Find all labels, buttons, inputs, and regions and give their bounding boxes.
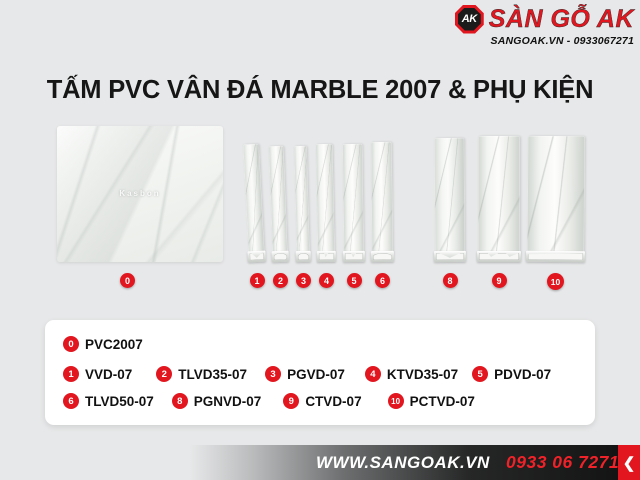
legend-item-4: 4KTVD35-07 (365, 366, 458, 382)
footer-phone[interactable]: 0933 06 7271 (506, 452, 619, 473)
legend-label-3: PGVD-07 (287, 367, 345, 382)
moulding-profile-flatwide (526, 251, 585, 262)
legend-badge-1: 1 (63, 366, 79, 382)
product-badge-9: 9 (492, 273, 507, 288)
ak-monogram: AK (455, 5, 484, 34)
moulding-profile-step (477, 251, 521, 262)
moulding-strip-3 (294, 146, 310, 262)
legend-badge-0: 0 (63, 336, 79, 352)
legend-row-1: 1VVD-072TLVD35-073PGVD-074KTVD35-075PDVD… (63, 366, 551, 382)
moulding-profile-flat (343, 251, 365, 262)
moulding-surface (434, 138, 465, 253)
moulding-strip-2 (269, 146, 288, 262)
legend-item-1: 1VVD-07 (63, 366, 132, 382)
legend-badge-5: 5 (472, 366, 488, 382)
product-badge-0: 0 (120, 273, 135, 288)
moulding-strip-9 (478, 136, 520, 262)
legend-badge-2: 2 (156, 366, 172, 382)
brand-name: SÀN GỖ AK (489, 5, 634, 33)
legend-label-8: PGNVD-07 (194, 394, 262, 409)
moulding-surface (316, 144, 335, 253)
legend-item-2: 2TLVD35-07 (156, 366, 247, 382)
moulding-surface (294, 146, 310, 253)
product-badge-10: 10 (547, 273, 564, 290)
legend-item-9: 9CTVD-07 (283, 393, 361, 409)
moulding-profile-half (272, 251, 289, 263)
footer-bar: WWW.SANGOAK.VN 0933 06 7271 ❮ (190, 445, 640, 480)
moulding-strip-4 (316, 144, 335, 262)
legend-label-0: PVC2007 (85, 337, 143, 352)
moulding-profile-v (247, 251, 266, 263)
legend-label-6: TLVD50-07 (85, 394, 154, 409)
moulding-surface (342, 144, 364, 253)
footer-website[interactable]: WWW.SANGOAK.VN (316, 453, 490, 473)
brand-logo-row: AK SÀN GỖ AK (455, 4, 634, 34)
legend-item-8: 8PGNVD-07 (172, 393, 262, 409)
product-image-pvc-panel: Kasbon (57, 126, 223, 262)
moulding-profile-flat (317, 251, 336, 262)
legend-label-5: PDVD-07 (494, 367, 551, 382)
legend-item-3: 3PGVD-07 (265, 366, 345, 382)
legend-badge-9: 9 (283, 393, 299, 409)
product-badge-1: 1 (250, 273, 265, 288)
product-badge-5: 5 (347, 273, 362, 288)
moulding-profile-dome (371, 251, 394, 262)
legend-item-6: 6TLVD50-07 (63, 393, 154, 409)
ak-octagon-icon: AK (455, 5, 484, 34)
legend-badge-3: 3 (265, 366, 281, 382)
moulding-profile-v (434, 251, 466, 262)
chevron-left-icon: ❮ (618, 445, 640, 480)
legend-item-5: 5PDVD-07 (472, 366, 551, 382)
legend-label-10: PCTVD-07 (410, 394, 475, 409)
legend-badge-8: 8 (172, 393, 188, 409)
product-badge-3: 3 (296, 273, 311, 288)
moulding-surface (371, 142, 393, 253)
legend-row-2: 6TLVD50-078PGNVD-079CTVD-0710PCTVD-07 (63, 393, 475, 409)
legend-label-9: CTVD-07 (305, 394, 361, 409)
legend-badge-4: 4 (365, 366, 381, 382)
brand-subtitle: SANGOAK.VN - 0933067271 (491, 35, 635, 47)
moulding-strip-1 (243, 144, 265, 263)
brand-logo: AK SÀN GỖ AK SANGOAK.VN - 0933067271 (428, 4, 634, 52)
legend-badge-6: 6 (63, 393, 79, 409)
moulding-strip-5 (342, 144, 364, 262)
page-title: TẤM PVC VÂN ĐÁ MARBLE 2007 & PHỤ KIỆN (0, 76, 640, 105)
moulding-surface (243, 144, 265, 254)
legend-row-0: 0PVC2007 (63, 336, 143, 352)
legend-label-4: KTVD35-07 (387, 367, 458, 382)
legend-item-0: 0PVC2007 (63, 336, 143, 352)
moulding-surface (527, 136, 585, 253)
product-badge-8: 8 (443, 273, 458, 288)
legend-label-2: TLVD35-07 (178, 367, 247, 382)
moulding-strip-8 (434, 138, 465, 262)
moulding-strip-10 (527, 136, 585, 262)
moulding-profile-half (296, 251, 311, 262)
product-badge-2: 2 (273, 273, 288, 288)
legend-card: 0PVC2007 1VVD-072TLVD35-073PGVD-074KTVD3… (45, 320, 595, 425)
moulding-surface (478, 136, 520, 253)
panel-watermark: Kasbon (57, 189, 223, 198)
legend-label-1: VVD-07 (85, 367, 132, 382)
moulding-strip-6 (371, 142, 393, 262)
moulding-surface (269, 146, 288, 253)
product-badge-4: 4 (319, 273, 334, 288)
legend-badge-10: 10 (388, 393, 404, 409)
product-badge-6: 6 (375, 273, 390, 288)
poster-canvas: AK SÀN GỖ AK SANGOAK.VN - 0933067271 TẤM… (0, 0, 640, 480)
legend-item-10: 10PCTVD-07 (388, 393, 475, 409)
